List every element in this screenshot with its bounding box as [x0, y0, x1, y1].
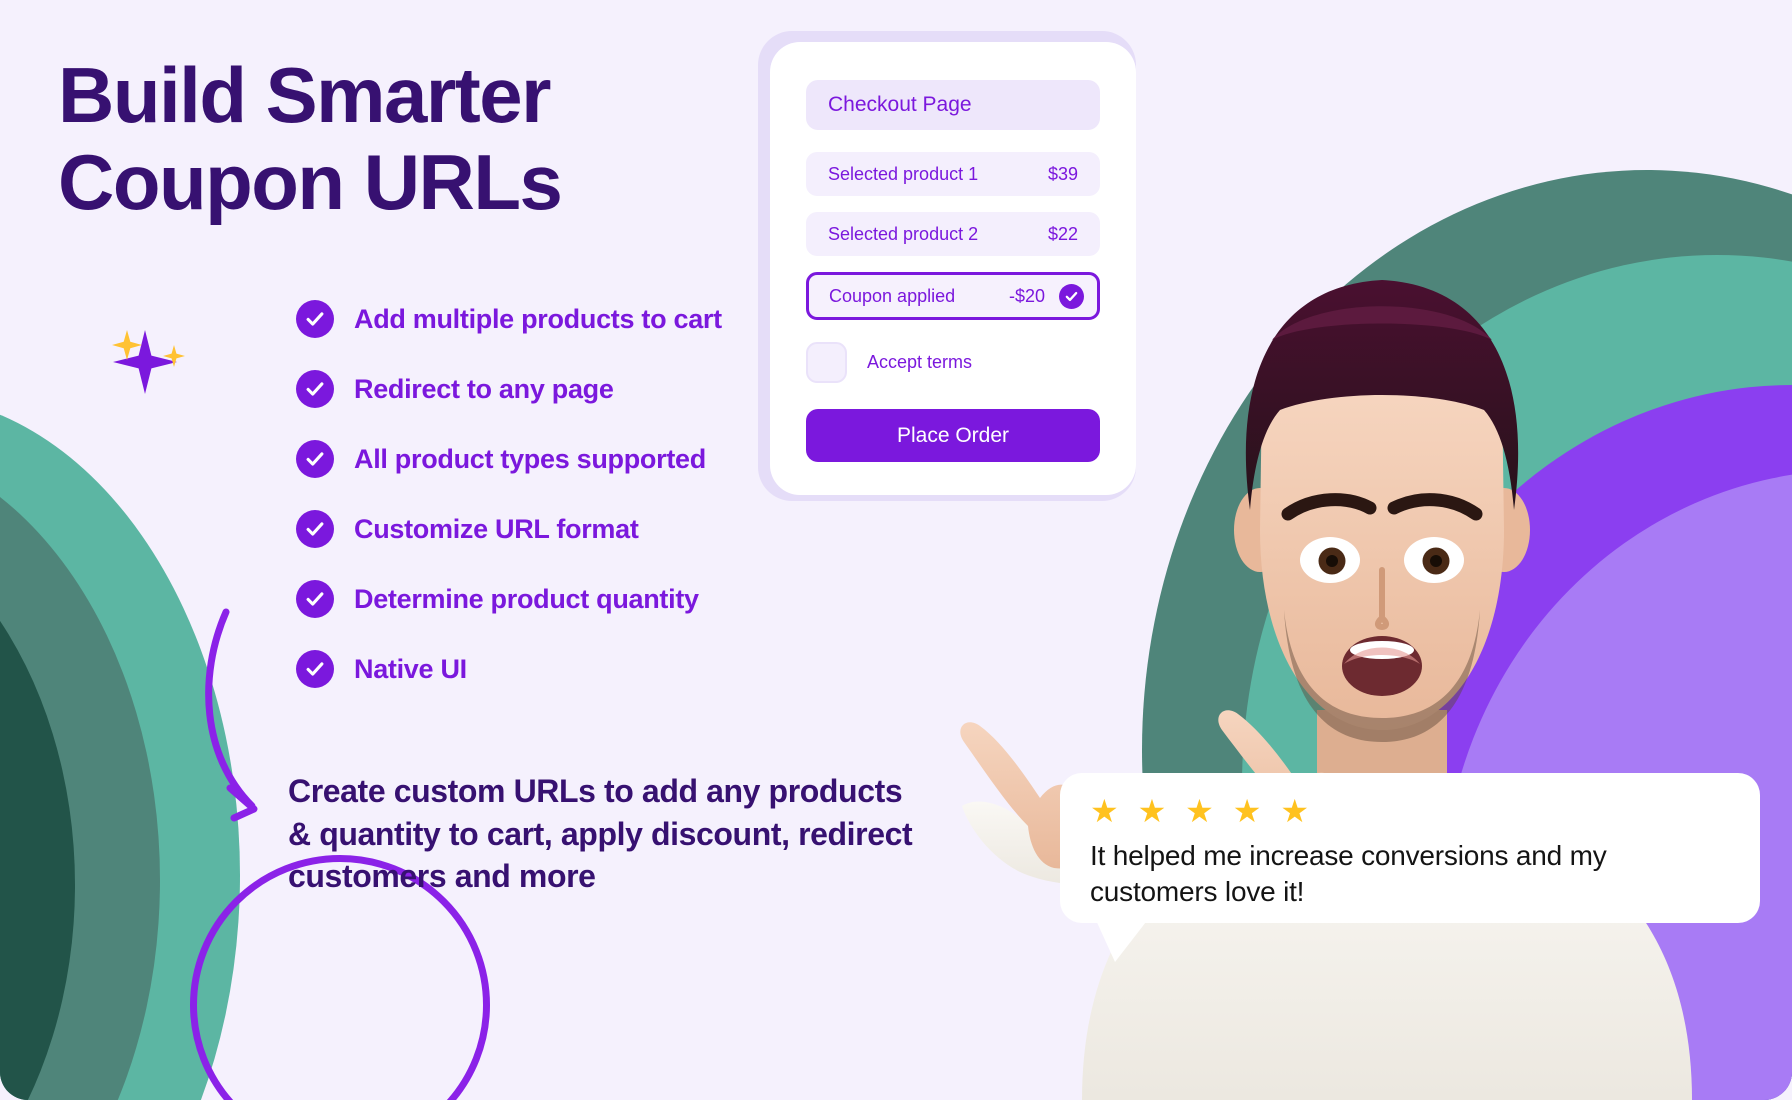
list-item: Add multiple products to cart — [296, 284, 722, 354]
check-circle-icon — [296, 300, 334, 338]
check-circle-icon — [296, 370, 334, 408]
list-item: Native UI — [296, 634, 722, 704]
promo-banner: Build Smarter Coupon URLs Add multiple p… — [0, 0, 1792, 1100]
feature-label: Native UI — [354, 654, 467, 685]
feature-label: Add multiple products to cart — [354, 304, 722, 335]
list-item: Determine product quantity — [296, 564, 722, 634]
testimonial-card: ★ ★ ★ ★ ★ It helped me increase conversi… — [1060, 773, 1760, 923]
list-item: Customize URL format — [296, 494, 722, 564]
tagline-text: Create custom URLs to add any products &… — [288, 770, 928, 898]
feature-list: Add multiple products to cart Redirect t… — [296, 284, 722, 704]
feature-label: Determine product quantity — [354, 584, 699, 615]
list-item: All product types supported — [296, 424, 722, 494]
page-title: Build Smarter Coupon URLs — [58, 52, 758, 227]
check-circle-icon — [296, 510, 334, 548]
feature-label: Customize URL format — [354, 514, 639, 545]
check-circle-icon — [296, 440, 334, 478]
feature-label: Redirect to any page — [354, 374, 614, 405]
testimonial-quote: It helped me increase conversions and my… — [1090, 838, 1730, 910]
star-rating-icon: ★ ★ ★ ★ ★ — [1090, 795, 1730, 827]
list-item: Redirect to any page — [296, 354, 722, 424]
accept-terms-checkbox[interactable] — [806, 342, 847, 383]
testimonial-tail — [1095, 918, 1149, 962]
person-photo — [932, 90, 1792, 1100]
feature-label: All product types supported — [354, 444, 706, 475]
